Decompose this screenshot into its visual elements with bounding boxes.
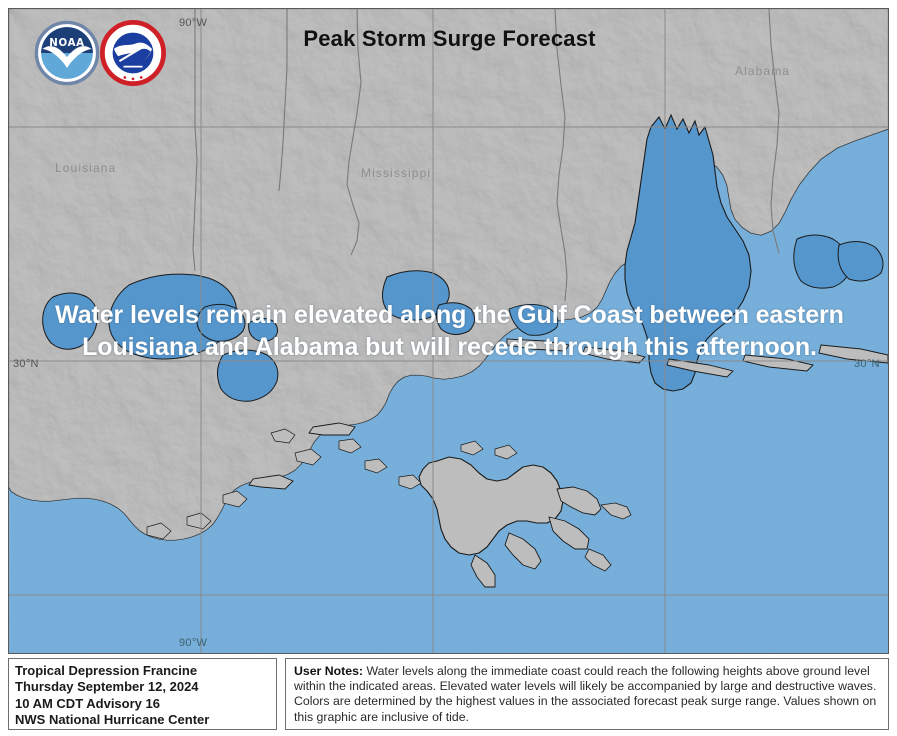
state-label-mississippi: Mississippi [361,166,431,180]
map-geography [9,9,888,653]
user-notes-body: Water levels along the immediate coast c… [294,664,876,724]
grid-label-lon-top: 90°W [179,17,207,29]
footer: Tropical Depression Francine Thursday Se… [8,654,889,730]
storm-info-panel: Tropical Depression Francine Thursday Se… [8,658,277,730]
storm-name: Tropical Depression Francine [15,663,276,679]
user-notes-panel: User Notes: Water levels along the immed… [285,658,889,730]
issuing-office: NWS National Hurricane Center [15,712,276,728]
grid-label-lat-right: 30°N [854,358,880,370]
storm-surge-graphic: NOAA Peak Storm Surge Forecast Loui [0,0,897,736]
page-title: Peak Storm Surge Forecast [9,26,889,52]
user-notes-text: User Notes: Water levels along the immed… [294,664,880,725]
advisory-date: Thursday September 12, 2024 [15,679,276,695]
grid-label-lon-bottom: 90°W [179,637,207,649]
state-label-louisiana: Louisiana [55,161,116,175]
map-canvas[interactable]: NOAA Peak Storm Surge Forecast Loui [8,8,889,654]
grid-label-lat-left: 30°N [13,358,39,370]
state-label-alabama: Alabama [735,64,790,78]
advisory-time-number: 10 AM CDT Advisory 16 [15,696,276,712]
user-notes-label: User Notes: [294,664,363,678]
